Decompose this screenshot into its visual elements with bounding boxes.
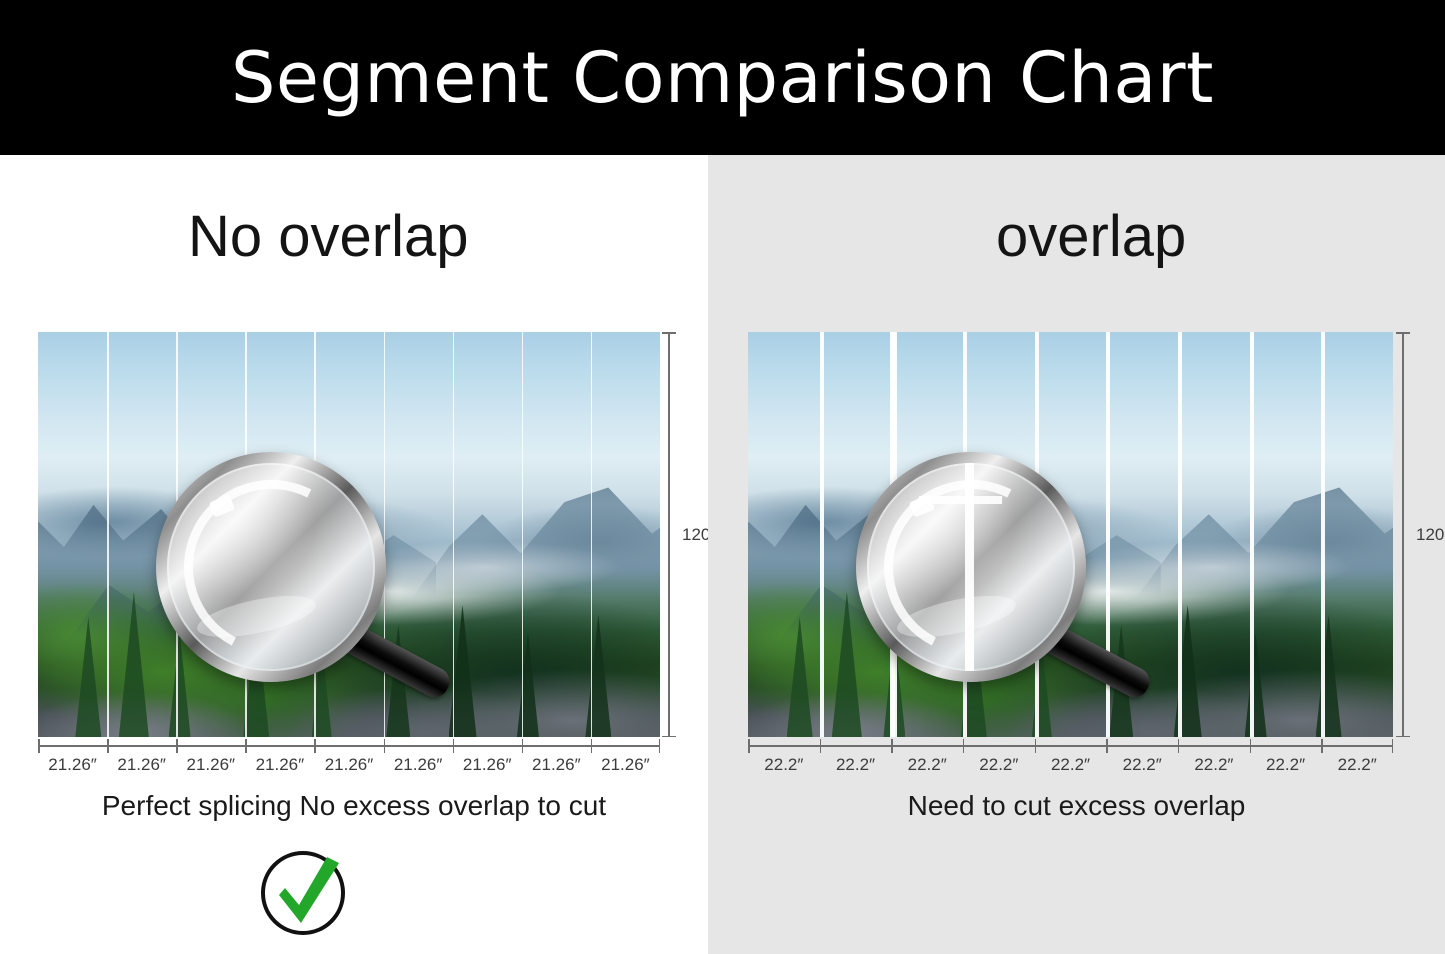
panel-heading-right: overlap	[708, 203, 1445, 270]
segment-label: 21.26″	[522, 755, 591, 775]
infographic-root: Segment Comparison Chart No overlap	[0, 0, 1445, 954]
segment-label: 22.2″	[1035, 755, 1107, 775]
segment-label: 21.26″	[38, 755, 107, 775]
segment-label: 21.26″	[453, 755, 522, 775]
segment-label: 21.26″	[384, 755, 453, 775]
segment-label: 22.2″	[820, 755, 892, 775]
segment-labels-left: 21.26″ 21.26″ 21.26″ 21.26″ 21.26″ 21.26…	[38, 755, 660, 775]
segment-label: 22.2″	[1321, 755, 1393, 775]
mural-preview-overlap	[748, 332, 1393, 737]
segment-labels-right: 22.2″ 22.2″ 22.2″ 22.2″ 22.2″ 22.2″ 22.2…	[748, 755, 1393, 775]
height-label-right: 120″	[1416, 525, 1445, 545]
segment-label: 22.2″	[891, 755, 963, 775]
panel-heading-left: No overlap	[0, 203, 708, 270]
segment-label: 21.26″	[245, 755, 314, 775]
green-check-icon	[251, 843, 361, 943]
segment-label: 21.26″	[591, 755, 660, 775]
caption-right: Need to cut excess overlap	[708, 790, 1445, 822]
mural-preview-no-overlap	[38, 332, 660, 737]
page-title: Segment Comparison Chart	[231, 43, 1214, 113]
segment-label: 22.2″	[1250, 755, 1322, 775]
magnifying-glass-icon	[856, 452, 1086, 682]
title-banner: Segment Comparison Chart	[0, 0, 1445, 155]
segment-label: 21.26″	[314, 755, 383, 775]
segment-label: 21.26″	[107, 755, 176, 775]
segment-label: 22.2″	[1178, 755, 1250, 775]
caption-left: Perfect splicing No excess overlap to cu…	[0, 790, 708, 822]
panel-no-overlap: No overlap	[0, 155, 708, 954]
magnifying-glass-icon	[156, 452, 386, 682]
panel-overlap: overlap	[708, 155, 1445, 954]
segment-label: 22.2″	[1106, 755, 1178, 775]
segment-label: 21.26″	[176, 755, 245, 775]
segment-label: 22.2″	[963, 755, 1035, 775]
segment-label: 22.2″	[748, 755, 820, 775]
